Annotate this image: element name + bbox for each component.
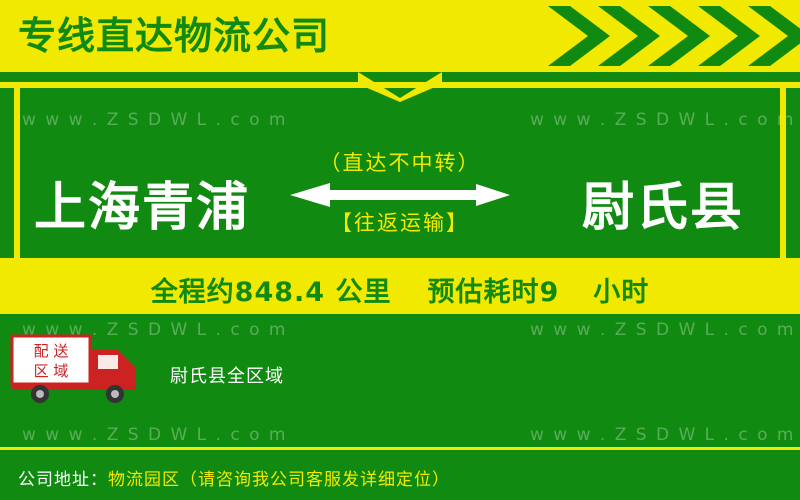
svg-text:配 送: 配 送 xyxy=(34,342,69,360)
footer-row: 公司地址： 物流园区（请咨询我公司客服发详细定位） xyxy=(0,455,800,500)
delivery-area-text: 尉氏县全区域 xyxy=(170,362,284,388)
destination-city: 尉氏县 xyxy=(582,178,744,238)
delivery-truck-icon: 配 送 区 域 xyxy=(10,328,160,413)
logistics-banner: w w w . Z S D W L . c o m w w w . Z S D … xyxy=(0,0,800,500)
route-note-bottom: 【往返运输】 xyxy=(250,210,550,236)
distance-text: 全程约848.4 公里 xyxy=(151,270,392,309)
address-value: 物流园区（请咨询我公司客服发详细定位） xyxy=(108,465,450,490)
chevron-down-icon xyxy=(358,72,442,106)
watermark-text: w w w . Z S D W L . c o m xyxy=(530,425,795,445)
page-title: 专线直达物流公司 xyxy=(18,12,330,60)
arrow-right-icon xyxy=(250,182,550,208)
route-middle: （直达不中转） 【往返运输】 xyxy=(250,150,550,236)
duration-text: 预估耗时9 xyxy=(428,270,560,309)
delivery-row: 配 送 区 域 尉氏县全区域 xyxy=(0,320,800,420)
duration-unit: 小时 xyxy=(593,270,649,309)
svg-text:区 域: 区 域 xyxy=(34,362,69,380)
watermark-text: w w w . Z S D W L . c o m xyxy=(22,425,287,445)
chevron-decoration-group xyxy=(420,0,800,72)
origin-city: 上海青浦 xyxy=(34,178,250,238)
footer-divider xyxy=(0,447,800,450)
address-label: 公司地址： xyxy=(18,465,108,490)
stats-bar: 全程约848.4 公里 预估耗时9 小时 xyxy=(0,264,800,314)
route-note-top: （直达不中转） xyxy=(250,150,550,176)
route-row: 上海青浦 尉氏县 （直达不中转） 【往返运输】 xyxy=(0,150,800,260)
chevron-right-icon xyxy=(548,6,610,66)
